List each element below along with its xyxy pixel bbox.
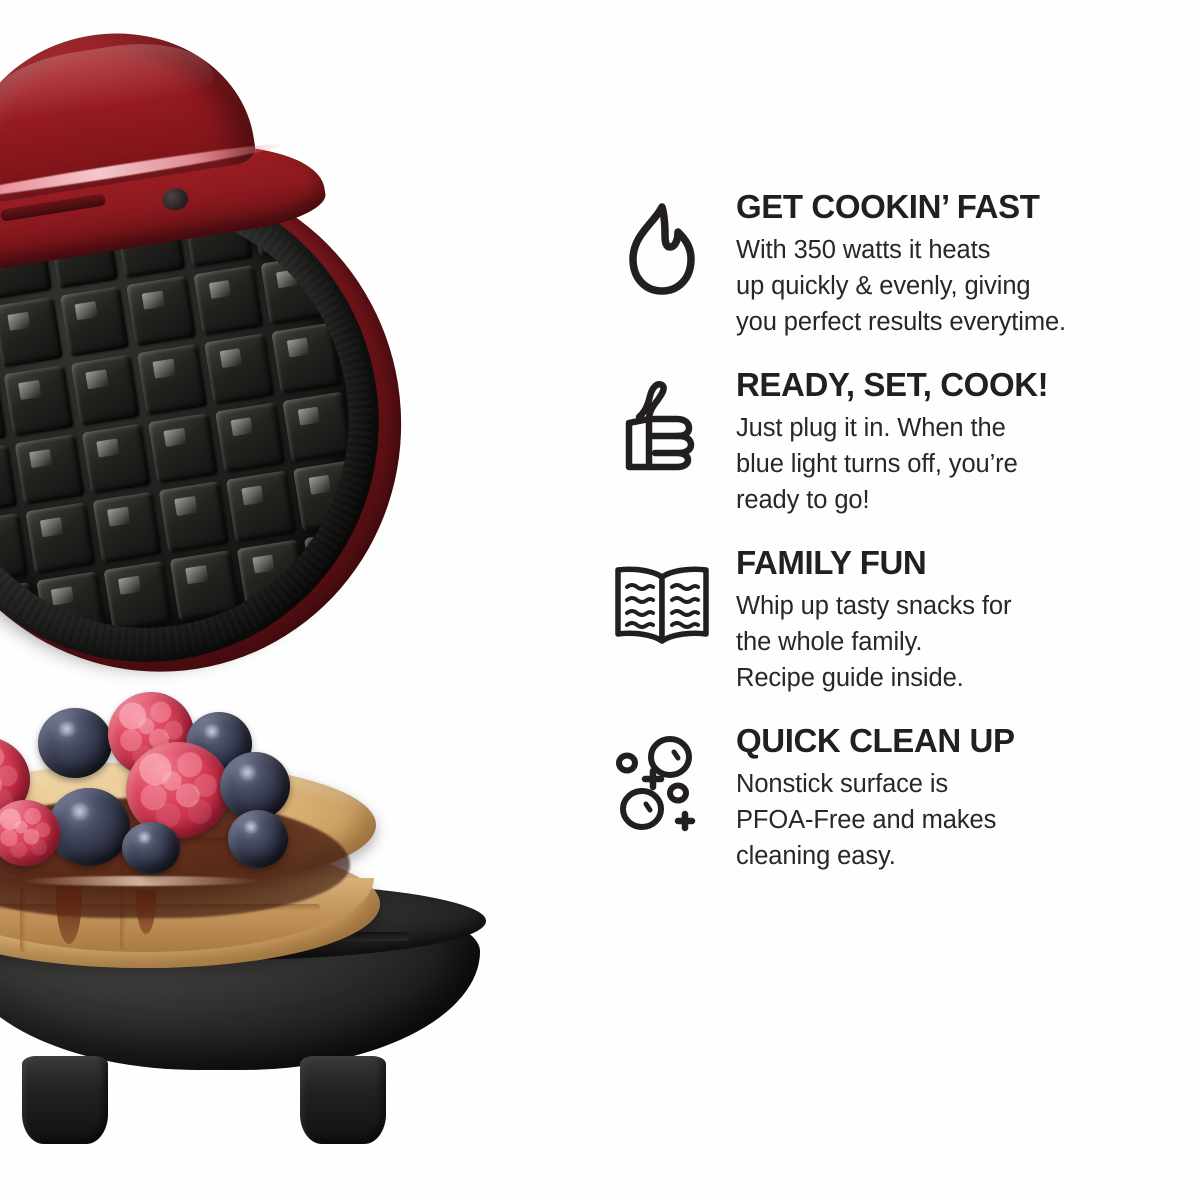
waffle-grid-cell xyxy=(14,434,84,505)
waffle-maker-lid xyxy=(0,0,480,765)
feature-body-line: PFOA-Free and makes xyxy=(736,802,1178,838)
waffle-grid-cell xyxy=(70,354,140,425)
blueberry xyxy=(228,810,288,868)
waffle-grid-cell xyxy=(170,550,240,621)
feature-heading: READY, SET, COOK! xyxy=(736,368,1178,403)
feature-body-line: you perfect results everytime. xyxy=(736,304,1178,340)
waffle-grid-cell xyxy=(237,539,307,610)
feature-body-line: blue light turns off, you’re xyxy=(736,446,1178,482)
waffle-grid-cell xyxy=(293,460,363,531)
feature-body-line: ready to go! xyxy=(736,482,1178,518)
waffle-grid-cell xyxy=(304,528,374,599)
bubbles-icon xyxy=(610,722,714,834)
waffle-grid-cell xyxy=(60,286,130,357)
waffle-grid-cell xyxy=(0,296,62,367)
open-book-icon xyxy=(610,544,714,656)
waffle-grid-cell xyxy=(194,264,264,335)
feature-body: Whip up tasty snacks for the whole famil… xyxy=(736,588,1178,696)
blueberry xyxy=(122,822,180,874)
feature-item-ready-set-cook: READY, SET, COOK! Just plug it in. When … xyxy=(600,366,1178,518)
base-foot xyxy=(22,1056,108,1144)
waffle-grid-cell xyxy=(204,333,274,404)
feature-item-quick-clean-up: QUICK CLEAN UP Nonstick surface is PFOA-… xyxy=(600,722,1178,874)
feature-heading: GET COOKIN’ FAST xyxy=(736,190,1178,225)
feature-body-line: Just plug it in. When the xyxy=(736,410,1178,446)
waffle-grid-cell xyxy=(215,402,285,473)
feature-text: GET COOKIN’ FAST With 350 watts it heats… xyxy=(736,188,1178,340)
feature-body-line: With 350 watts it heats xyxy=(736,232,1178,268)
waffle-grid-cell xyxy=(159,481,229,552)
waffle-grid-cell xyxy=(92,492,162,563)
waffle-stack xyxy=(0,690,530,1020)
feature-body: Just plug it in. When the blue light tur… xyxy=(736,410,1178,518)
waffle-grid-cell xyxy=(81,423,151,494)
waffle-grid-cell xyxy=(148,412,218,483)
feature-text: READY, SET, COOK! Just plug it in. When … xyxy=(736,366,1178,518)
feature-body-line: the whole family. xyxy=(736,624,1178,660)
thumbs-up-icon xyxy=(610,366,714,478)
feature-item-family-fun: FAMILY FUN Whip up tasty snacks for the … xyxy=(600,544,1178,696)
feature-body-line: Recipe guide inside. xyxy=(736,660,1178,696)
blueberry xyxy=(48,788,130,866)
waffle-grid-cell xyxy=(0,581,39,652)
feature-body-line: up quickly & evenly, giving xyxy=(736,268,1178,304)
waffle-grid-cell xyxy=(271,322,341,393)
waffle-grid-cell xyxy=(36,571,106,642)
feature-item-get-cookin-fast: GET COOKIN’ FAST With 350 watts it heats… xyxy=(600,188,1178,340)
waffle-grid-cell xyxy=(282,391,352,462)
feature-heading: FAMILY FUN xyxy=(736,546,1178,581)
waffle-grid-cell xyxy=(25,502,95,573)
feature-body: Nonstick surface is PFOA-Free and makes … xyxy=(736,766,1178,874)
waffle-grid-cell xyxy=(0,513,28,584)
waffle-grid-cell xyxy=(3,365,73,436)
feature-body-line: cleaning easy. xyxy=(736,838,1178,874)
base-foot xyxy=(300,1056,386,1144)
feature-body-line: Nonstick surface is xyxy=(736,766,1178,802)
feature-list: GET COOKIN’ FAST With 350 watts it heats… xyxy=(600,0,1200,1200)
product-photo xyxy=(0,0,600,1200)
waffle-grid-cell xyxy=(127,275,197,346)
feature-body-line: Whip up tasty snacks for xyxy=(736,588,1178,624)
flame-icon xyxy=(610,188,714,300)
syrup-gloss xyxy=(20,876,260,886)
waffle-grid-cell xyxy=(137,344,207,415)
waffle-grid-cell xyxy=(0,444,17,515)
feature-body: With 350 watts it heats up quickly & eve… xyxy=(736,232,1178,340)
waffle-grid-cell xyxy=(103,560,173,631)
feature-text: QUICK CLEAN UP Nonstick surface is PFOA-… xyxy=(736,722,1178,874)
waffle-grid-cell xyxy=(261,254,331,325)
feature-text: FAMILY FUN Whip up tasty snacks for the … xyxy=(736,544,1178,696)
blueberry xyxy=(38,708,112,778)
waffle-grid-cell xyxy=(226,470,296,541)
feature-heading: QUICK CLEAN UP xyxy=(736,724,1178,759)
